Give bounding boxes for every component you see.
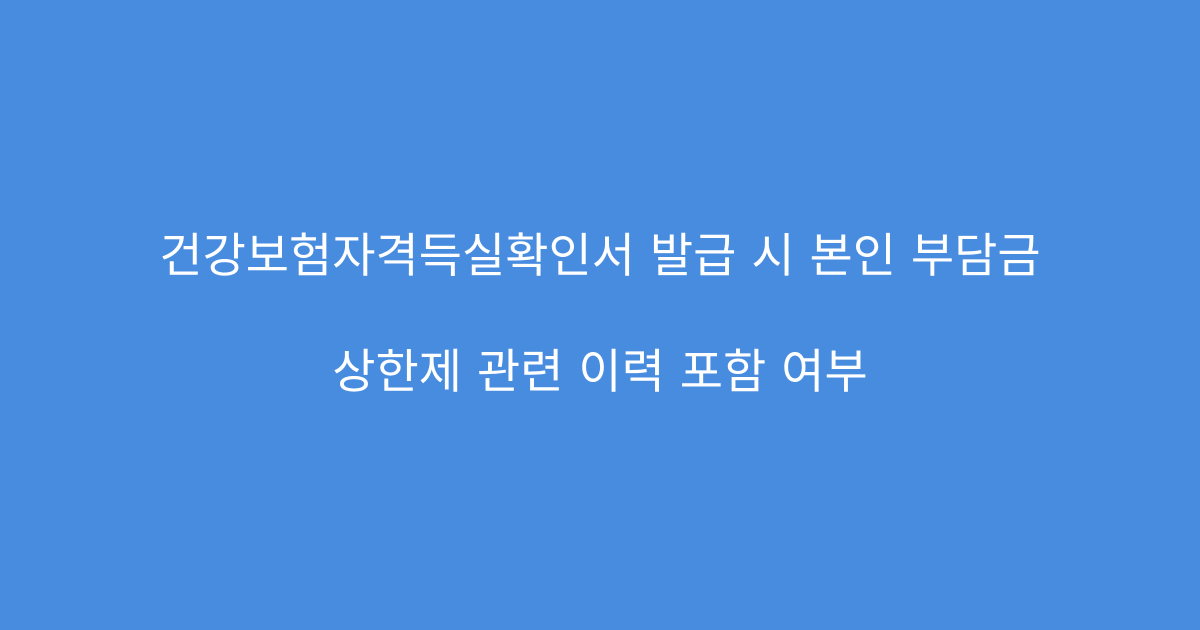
- thumbnail-card: 건강보험자격득실확인서 발급 시 본인 부담금 상한제 관련 이력 포함 여부: [0, 0, 1200, 630]
- headline-line-1: 건강보험자격득실확인서 발급 시 본인 부담금: [70, 228, 1130, 286]
- headline-line-2: 상한제 관련 이력 포함 여부: [70, 344, 1130, 402]
- headline-text: 건강보험자격득실확인서 발급 시 본인 부담금 상한제 관련 이력 포함 여부: [70, 170, 1130, 460]
